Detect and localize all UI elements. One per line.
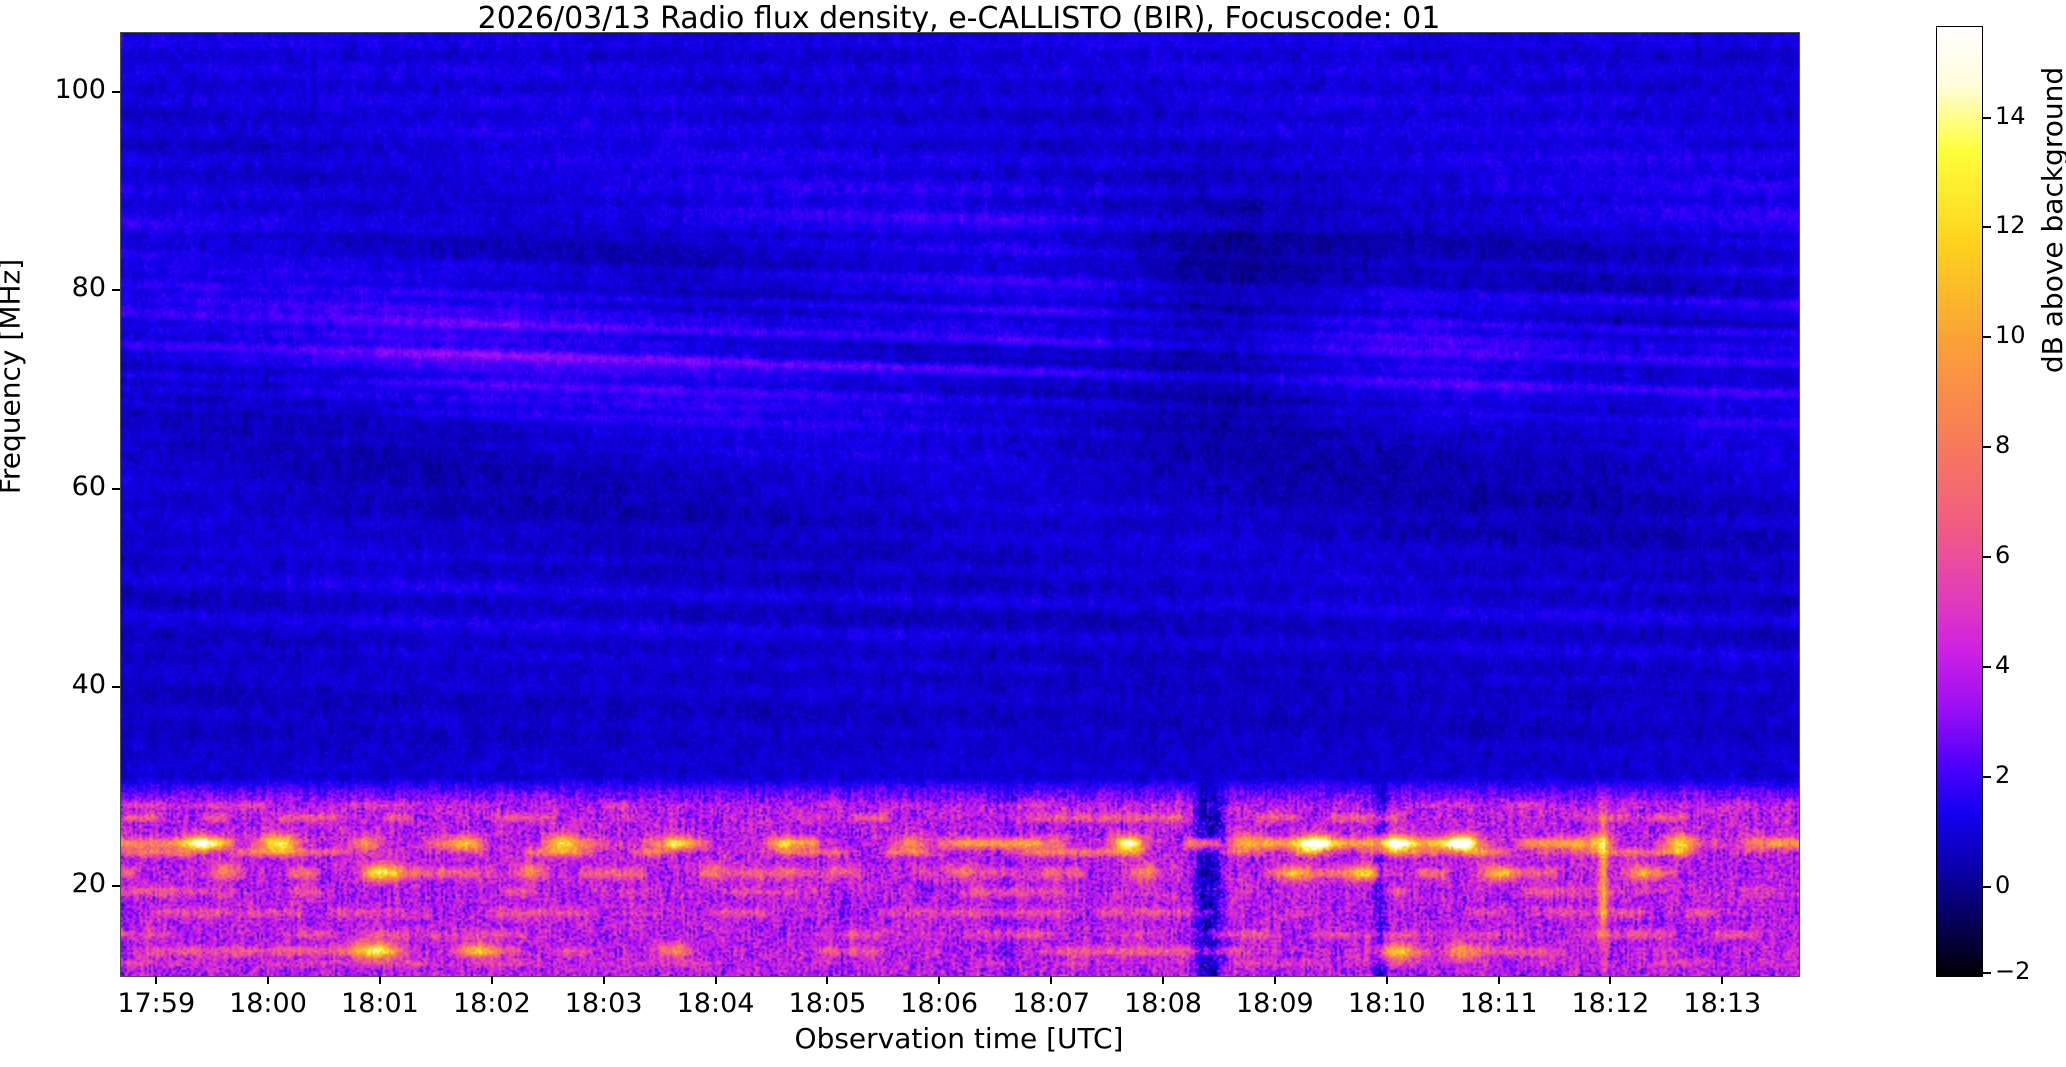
x-tick-mark [826,976,828,984]
x-tick-mark [715,976,717,984]
colorbar-tick-mark [1983,226,1991,228]
colorbar-tick-mark [1983,776,1991,778]
x-tick-label: 18:09 [1236,988,1314,1019]
x-tick-mark [1162,976,1164,984]
colorbar-tick-label: −2 [1995,957,2030,985]
x-tick-label: 18:02 [453,988,531,1019]
y-tick-label: 20 [10,868,106,899]
x-tick-label: 18:06 [900,988,978,1019]
colorbar[interactable] [1936,26,1983,977]
x-tick-label: 18:05 [789,988,867,1019]
colorbar-tick-mark [1983,117,1991,119]
x-tick-mark [267,976,269,984]
x-tick-label: 17:59 [117,988,195,1019]
colorbar-tick-mark [1983,886,1991,888]
x-tick-label: 18:03 [565,988,643,1019]
x-tick-label: 18:13 [1683,988,1761,1019]
x-tick-label: 18:07 [1012,988,1090,1019]
colorbar-tick-mark [1983,556,1991,558]
colorbar-tick-label: 2 [1995,761,2010,789]
x-tick-label: 18:10 [1348,988,1426,1019]
x-tick-label: 18:00 [229,988,307,1019]
x-tick-mark [1386,976,1388,984]
spectrogram-plot[interactable] [120,32,1800,977]
x-tick-mark [1274,976,1276,984]
x-tick-mark [155,976,157,984]
colorbar-gradient [1937,27,1982,976]
x-tick-label: 18:08 [1124,988,1202,1019]
spectrogram-figure: 2026/03/13 Radio flux density, e-CALLIST… [0,0,2066,1067]
y-tick-mark [112,289,120,291]
x-tick-mark [491,976,493,984]
x-axis-label: Observation time [UTC] [120,1022,1798,1055]
x-tick-mark [1609,976,1611,984]
x-tick-mark [1498,976,1500,984]
x-tick-mark [379,976,381,984]
y-tick-label: 40 [10,669,106,700]
colorbar-tick-label: 4 [1995,651,2010,679]
x-tick-label: 18:11 [1460,988,1538,1019]
colorbar-tick-label: 0 [1995,871,2010,899]
x-tick-mark [1050,976,1052,984]
colorbar-tick-mark [1983,666,1991,668]
x-tick-mark [603,976,605,984]
colorbar-tick-label: 12 [1995,211,2026,239]
y-tick-label: 100 [10,74,106,105]
y-tick-mark [112,91,120,93]
y-tick-mark [112,885,120,887]
x-tick-mark [1721,976,1723,984]
x-tick-label: 18:01 [341,988,419,1019]
colorbar-tick-label: 14 [1995,102,2026,130]
y-tick-mark [112,488,120,490]
colorbar-tick-label: 6 [1995,541,2010,569]
y-tick-mark [112,686,120,688]
colorbar-tick-label: 8 [1995,431,2010,459]
spectrogram-image[interactable] [121,33,1799,976]
x-tick-label: 18:04 [677,988,755,1019]
x-tick-label: 18:12 [1571,988,1649,1019]
colorbar-tick-mark [1983,446,1991,448]
colorbar-label: dB above background [2036,0,2066,480]
y-tick-label: 80 [10,272,106,303]
colorbar-tick-mark [1983,972,1991,974]
colorbar-tick-mark [1983,336,1991,338]
y-tick-label: 60 [10,471,106,502]
page-title: 2026/03/13 Radio flux density, e-CALLIST… [120,2,1798,36]
x-tick-mark [938,976,940,984]
colorbar-tick-label: 10 [1995,321,2026,349]
